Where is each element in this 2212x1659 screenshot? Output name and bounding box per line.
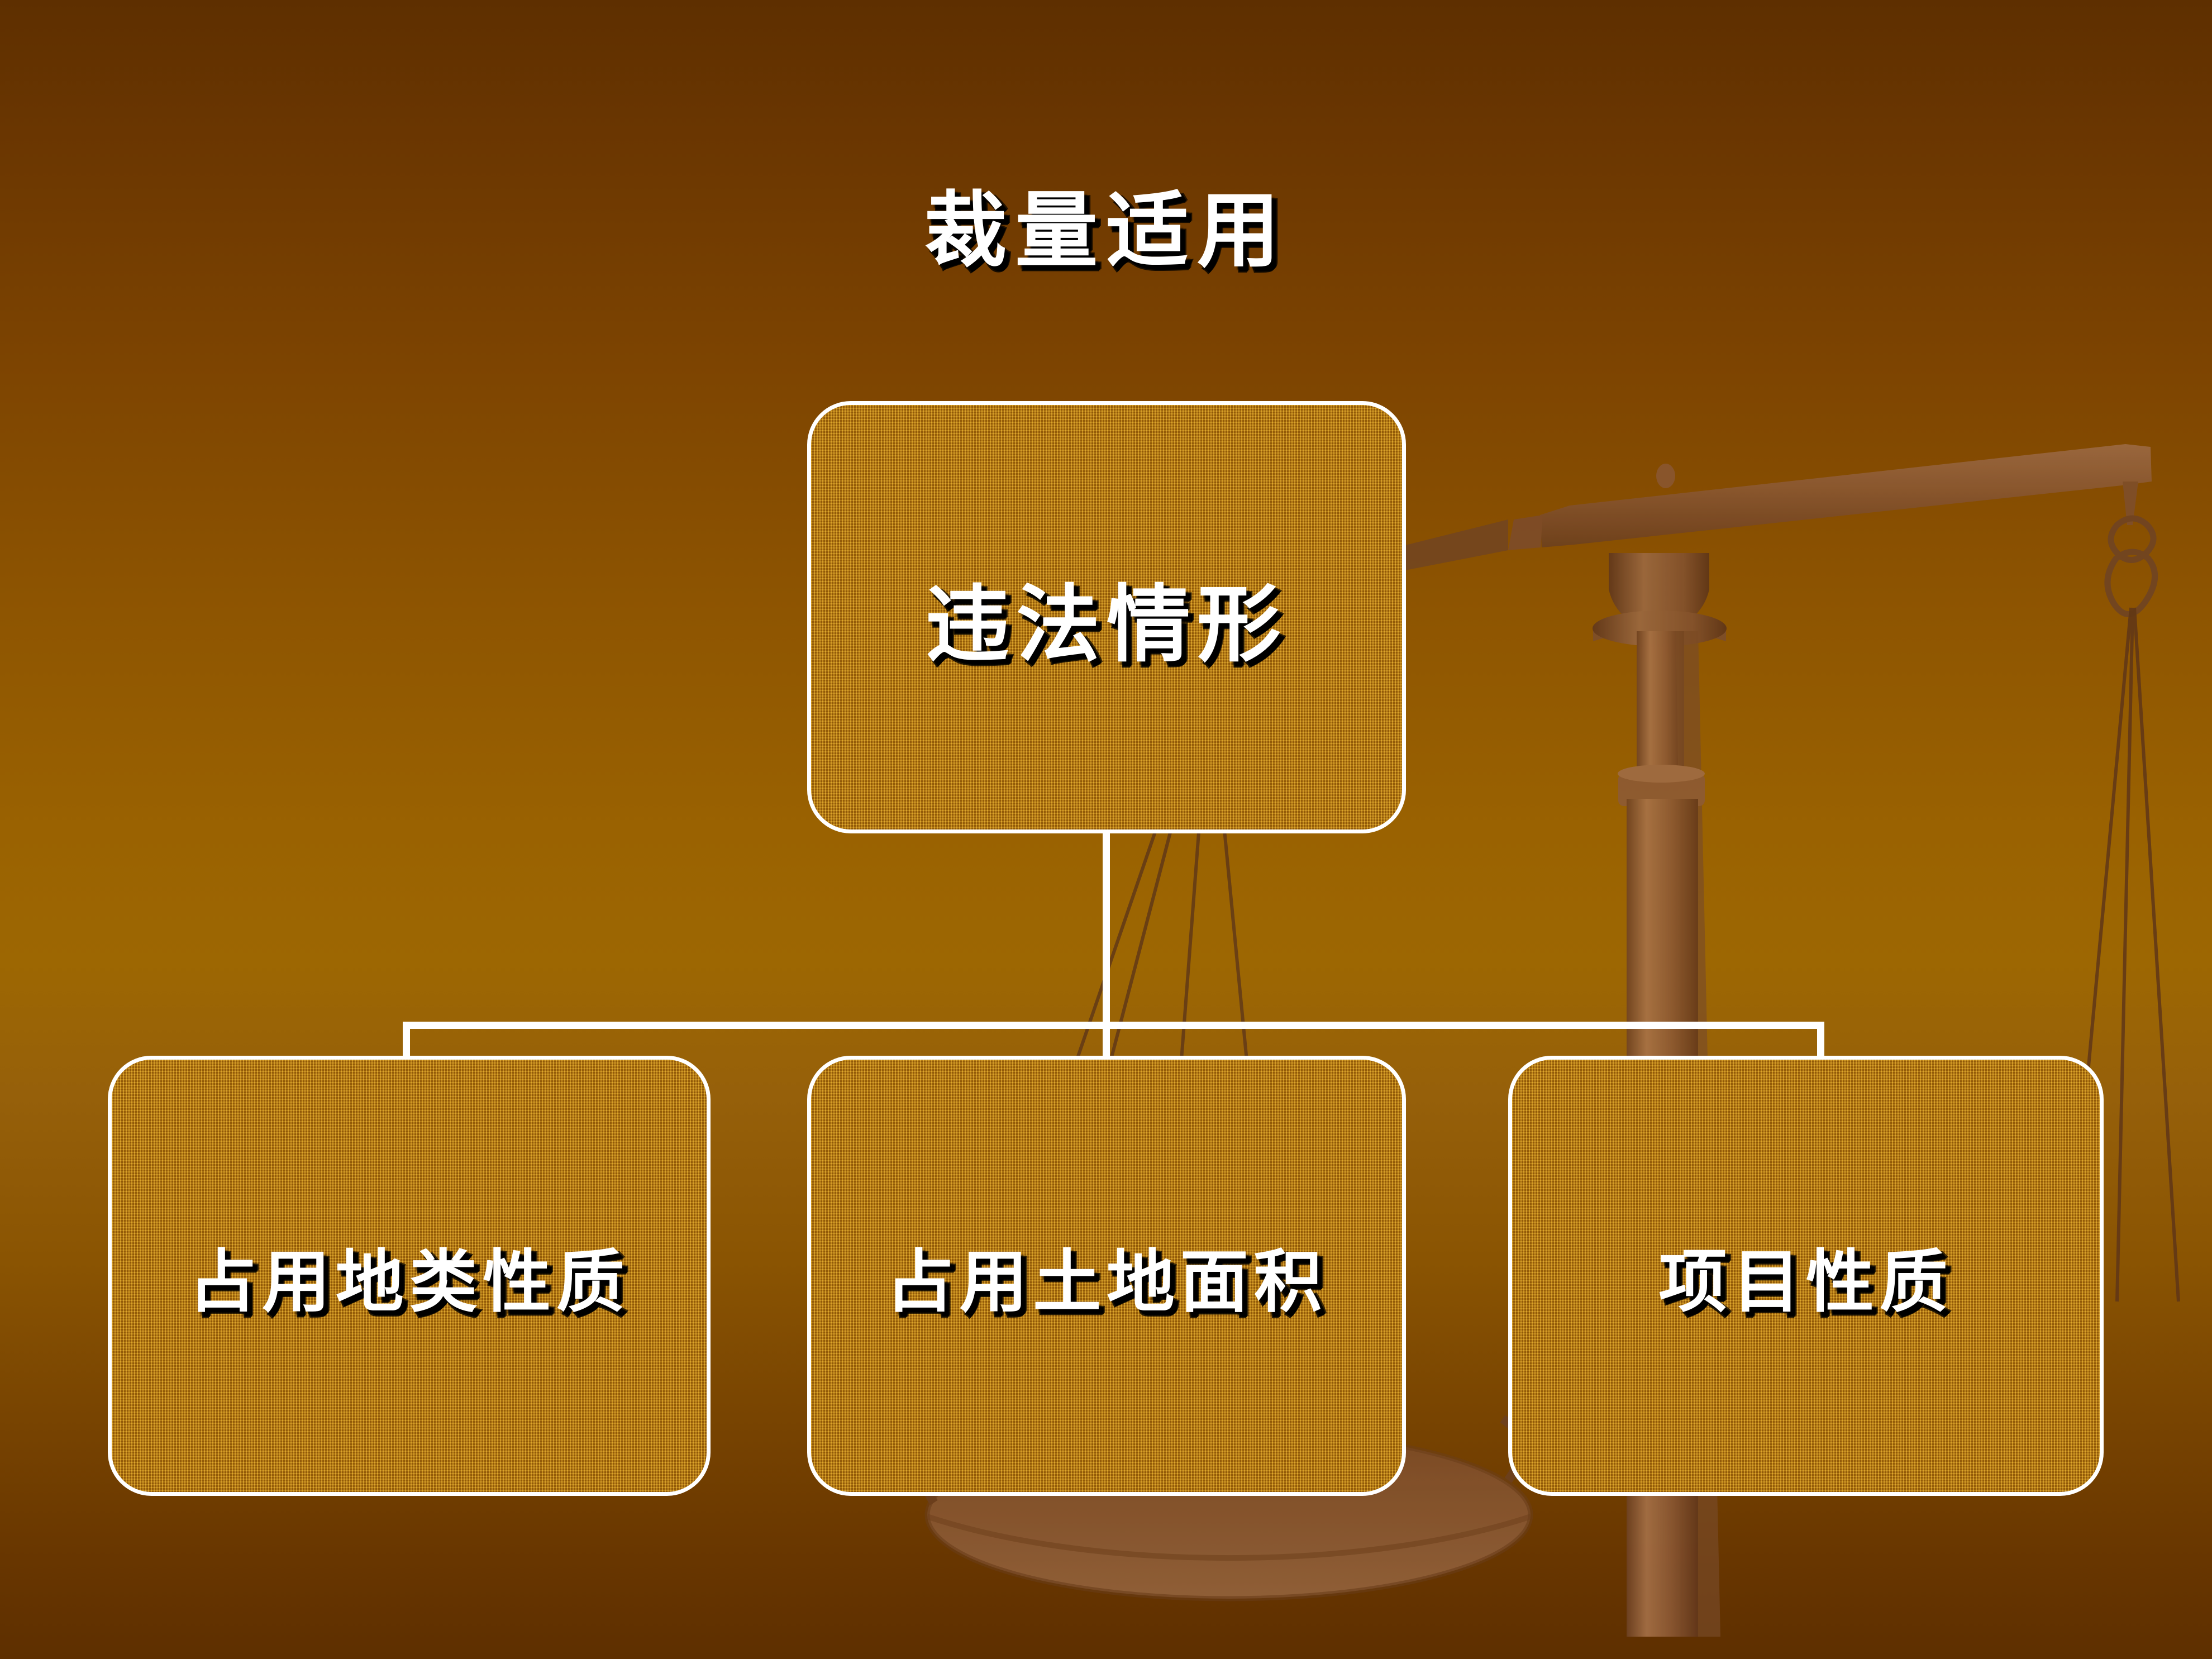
diagram-node-project-type[interactable]: 项目性质	[1508, 1056, 2104, 1496]
diagram-node-land-area-label: 占用土地面积	[886, 1227, 1328, 1326]
connector-drop-to-node-c	[1817, 1022, 1824, 1060]
diagram-node-project-type-label: 项目性质	[1658, 1227, 1953, 1326]
slide-title: 裁量适用	[0, 163, 2212, 283]
connector-root-stem	[1103, 832, 1110, 1029]
diagram-node-land-type-label: 占用地类性质	[188, 1227, 630, 1326]
presentation-slide: 裁量适用 违法情形 占用地类性质 占用土地面积 项目性质	[0, 0, 2212, 1659]
diagram-node-root-label: 违法情形	[926, 557, 1288, 678]
diagram-node-root[interactable]: 违法情形	[807, 401, 1406, 833]
diagram-node-land-area[interactable]: 占用土地面积	[807, 1056, 1406, 1496]
diagram-node-land-type[interactable]: 占用地类性质	[108, 1056, 711, 1496]
connector-drop-to-node-a	[403, 1022, 410, 1060]
connector-horizontal-bus	[403, 1022, 1824, 1029]
connector-drop-to-node-b	[1103, 1022, 1110, 1060]
